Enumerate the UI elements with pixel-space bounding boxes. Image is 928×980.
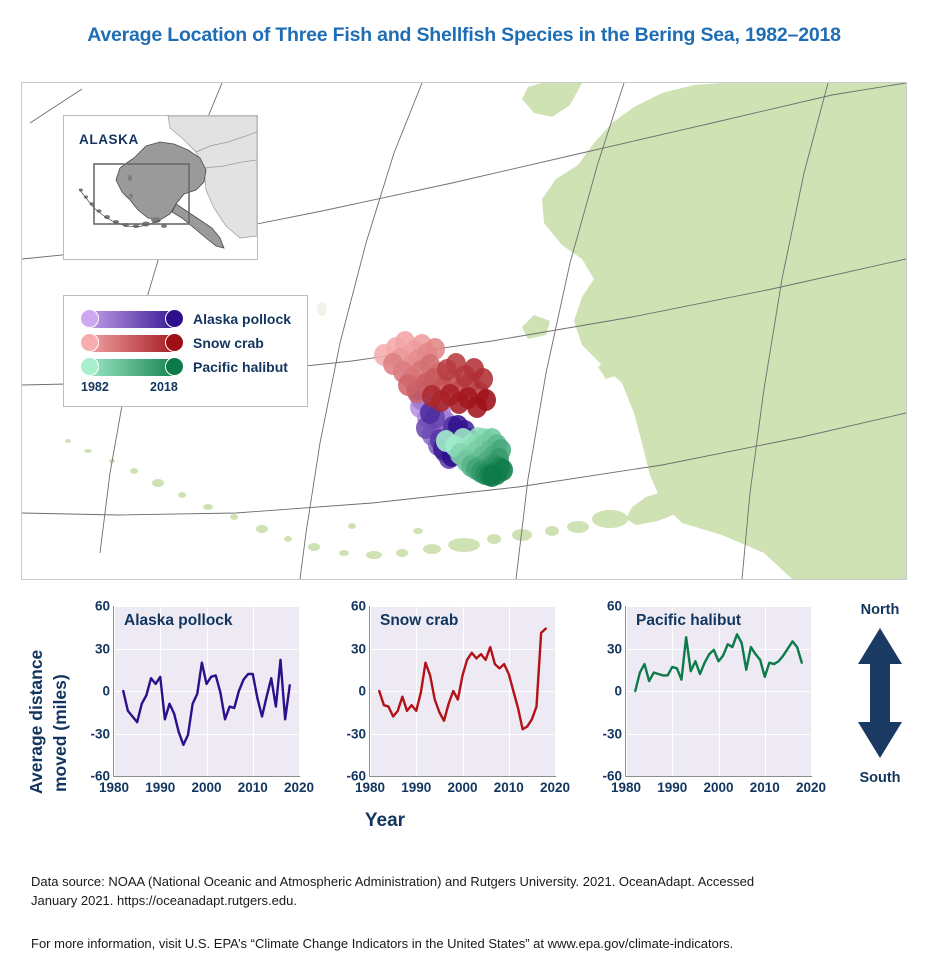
legend-year-end: 2018 [150, 380, 178, 394]
compass-north-label: North [832, 602, 928, 618]
y-axis-line [113, 606, 114, 777]
data-source-line2: January 2021. https://oceanadapt.rutgers… [31, 891, 897, 910]
y-axis-label-line1: Average distance [26, 650, 47, 794]
y-tick-label: 60 [322, 599, 366, 614]
page-title: Average Location of Three Fish and Shell… [0, 24, 928, 47]
gridline-vertical [811, 606, 812, 776]
x-tick-label: 1980 [611, 780, 641, 795]
y-ticks-pollock: 60300-30-60 [64, 606, 110, 776]
legend-item-pacific-halibut: Pacific halibut [81, 355, 291, 379]
gradient-start-dot-halibut [80, 357, 99, 376]
chart-panel-pacific-halibut: 60300-30-60 Pacific halibut 198019902000… [576, 592, 826, 807]
x-tick-label: 2000 [703, 780, 733, 795]
series-polyline [635, 634, 802, 691]
x-axis-line [369, 776, 556, 777]
series-line-pollock [114, 606, 299, 776]
gradient-end-dot-halibut [165, 357, 184, 376]
y-tick-label: -30 [66, 726, 110, 741]
legend-rows: Alaska pollock Snow crab Pacific halibut [81, 307, 291, 379]
x-tick-label: 2020 [540, 780, 570, 795]
chart-title-snowcrab: Snow crab [380, 612, 458, 630]
y-axis-line [625, 606, 626, 777]
y-tick-label: 60 [66, 599, 110, 614]
inset-title: ALASKA [79, 132, 139, 147]
y-tick-label: 0 [322, 684, 366, 699]
chart-title-halibut: Pacific halibut [636, 612, 741, 630]
gradient-bar-halibut [81, 359, 183, 376]
gradient-bar-snowcrab [81, 335, 183, 352]
x-tick-label: 2010 [238, 780, 268, 795]
x-tick-label: 1980 [99, 780, 129, 795]
x-tick-label: 2000 [191, 780, 221, 795]
x-tick-label: 2020 [284, 780, 314, 795]
x-tick-label: 1980 [355, 780, 385, 795]
y-tick-label: 0 [66, 684, 110, 699]
figure-root: Average Location of Three Fish and Shell… [0, 0, 928, 980]
gradient-end-dot-pollock [165, 309, 184, 328]
x-tick-label: 1990 [401, 780, 431, 795]
y-tick-label: 0 [578, 684, 622, 699]
gridline-vertical [555, 606, 556, 776]
legend-item-snow-crab: Snow crab [81, 331, 291, 355]
y-tick-label: -30 [322, 726, 366, 741]
x-axis-line [625, 776, 812, 777]
x-tick-label: 2000 [447, 780, 477, 795]
map-legend: Alaska pollock Snow crab Pacific halibut [63, 295, 308, 407]
gradient-start-dot-snowcrab [80, 333, 99, 352]
y-tick-label: 30 [578, 641, 622, 656]
charts-row: Average distance moved (miles) 60300-30-… [0, 592, 928, 847]
x-tick-label: 1990 [657, 780, 687, 795]
y-tick-label: 30 [66, 641, 110, 656]
x-tick-label: 2010 [494, 780, 524, 795]
footer-notes: Data source: NOAA (National Oceanic and … [31, 872, 897, 953]
north-south-arrow-icon [832, 622, 928, 762]
series-polyline [123, 660, 290, 745]
x-ticks-snowcrab: 19801990200020102020 [370, 780, 555, 800]
gridline-vertical [299, 606, 300, 776]
y-tick-label: -30 [578, 726, 622, 741]
legend-label-pollock: Alaska pollock [193, 312, 291, 326]
alaska-inset: ALASKA [63, 115, 258, 260]
series-line-halibut [626, 606, 811, 776]
y-axis-line [369, 606, 370, 777]
compass-indicator: North South [832, 600, 928, 800]
data-source-line1: Data source: NOAA (National Oceanic and … [31, 872, 897, 891]
series-line-snowcrab [370, 606, 555, 776]
y-tick-label: 30 [322, 641, 366, 656]
x-tick-label: 1990 [145, 780, 175, 795]
x-axis-label: Year [0, 810, 770, 832]
legend-item-alaska-pollock: Alaska pollock [81, 307, 291, 331]
x-ticks-pollock: 19801990200020102020 [114, 780, 299, 800]
map-panel: ALASKA Alaska pollock Snow crab [21, 82, 907, 580]
chart-panel-snow-crab: 60300-30-60 Snow crab 198019902000201020… [320, 592, 570, 807]
x-tick-label: 2020 [796, 780, 826, 795]
gradient-start-dot-pollock [80, 309, 99, 328]
legend-label-snowcrab: Snow crab [193, 336, 264, 350]
y-axis-label: Average distance moved (miles) [0, 592, 64, 802]
gradient-end-dot-snowcrab [165, 333, 184, 352]
series-polyline [379, 629, 546, 730]
y-ticks-halibut: 60300-30-60 [576, 606, 622, 776]
x-axis-line [113, 776, 300, 777]
legend-year-start: 1982 [81, 380, 109, 394]
gradient-bar-pollock [81, 311, 183, 328]
x-ticks-halibut: 19801990200020102020 [626, 780, 811, 800]
more-info-line: For more information, visit U.S. EPA’s “… [31, 934, 897, 953]
x-tick-label: 2010 [750, 780, 780, 795]
chart-panel-alaska-pollock: 60300-30-60 Alaska pollock 1980199020002… [64, 592, 314, 807]
snowcrab-points [374, 331, 496, 418]
chart-title-pollock: Alaska pollock [124, 612, 233, 630]
y-ticks-snowcrab: 60300-30-60 [320, 606, 366, 776]
y-tick-label: 60 [578, 599, 622, 614]
legend-label-halibut: Pacific halibut [193, 360, 288, 374]
compass-south-label: South [832, 770, 928, 786]
